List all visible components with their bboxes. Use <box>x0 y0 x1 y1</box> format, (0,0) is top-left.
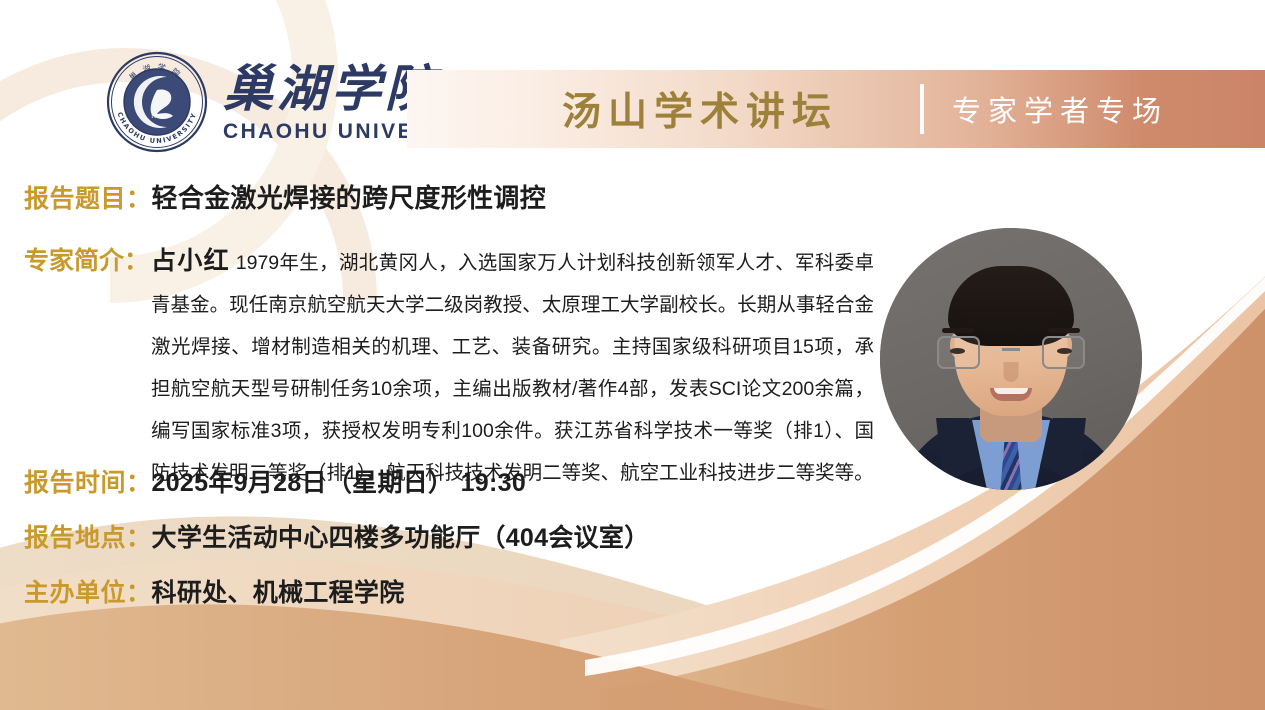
talk-title-value: 轻合金激光焊接的跨尺度形性调控 <box>152 178 547 215</box>
banner-sub-title: 专家学者专场 <box>952 88 1168 130</box>
talk-place-row: 报告地点： 大学生活动中心四楼多功能厅（404会议室） <box>24 518 650 554</box>
talk-place-label: 报告地点： <box>24 518 152 554</box>
talk-title-label: 报告题目： <box>24 179 152 215</box>
poster-canvas: 1977 CHAOHU UNIVERSITY 巢湖学院 巢湖学院 CHAOHU … <box>0 0 1265 710</box>
portrait-hair <box>948 266 1074 346</box>
event-series-banner: 汤山学术讲坛 专家学者专场 <box>407 70 1265 148</box>
svg-text:1977: 1977 <box>151 114 164 120</box>
speaker-bio-row: 专家简介： 占小红 1979年生，湖北黄冈人，入选国家万人计划科技创新领军人才、… <box>24 240 874 494</box>
organizer-row: 主办单位： 科研处、机械工程学院 <box>24 573 405 609</box>
banner-divider <box>920 84 924 134</box>
portrait-nose <box>1004 362 1019 382</box>
poster-header: 1977 CHAOHU UNIVERSITY 巢湖学院 巢湖学院 CHAOHU … <box>0 0 1265 165</box>
talk-time-value: 2025年9月28日（星期日） 19:30 <box>152 463 527 499</box>
portrait-teeth <box>994 388 1028 394</box>
chaohu-university-emblem-icon: 1977 CHAOHU UNIVERSITY 巢湖学院 <box>105 50 209 154</box>
speaker-portrait-photo <box>880 228 1142 490</box>
portrait-eyebrow-right <box>1048 328 1080 333</box>
speaker-name: 占小红 <box>151 247 230 275</box>
wave-dark-left <box>0 604 1265 710</box>
banner-main-title: 汤山学术讲坛 <box>562 81 838 137</box>
talk-title-row: 报告题目： 轻合金激光焊接的跨尺度形性调控 <box>24 178 546 215</box>
talk-time-row: 报告时间： 2025年9月28日（星期日） 19:30 <box>24 463 526 499</box>
organizer-label: 主办单位： <box>24 573 152 609</box>
organizer-value: 科研处、机械工程学院 <box>152 573 405 609</box>
portrait-glasses-right <box>1042 336 1085 369</box>
portrait-glasses-left <box>937 336 980 369</box>
portrait-eyebrow-left <box>942 328 974 333</box>
speaker-bio-label: 专家简介： <box>24 240 149 282</box>
speaker-bio-body: 1979年生，湖北黄冈人，入选国家万人计划科技创新领军人才、军科委卓青基金。现任… <box>151 252 874 484</box>
talk-place-value: 大学生活动中心四楼多功能厅（404会议室） <box>152 518 650 554</box>
portrait-glasses-bridge <box>1002 348 1020 351</box>
talk-time-label: 报告时间： <box>24 463 152 499</box>
portrait-mouth <box>990 388 1032 401</box>
speaker-bio-text: 占小红 1979年生，湖北黄冈人，入选国家万人计划科技创新领军人才、军科委卓青基… <box>151 240 874 494</box>
